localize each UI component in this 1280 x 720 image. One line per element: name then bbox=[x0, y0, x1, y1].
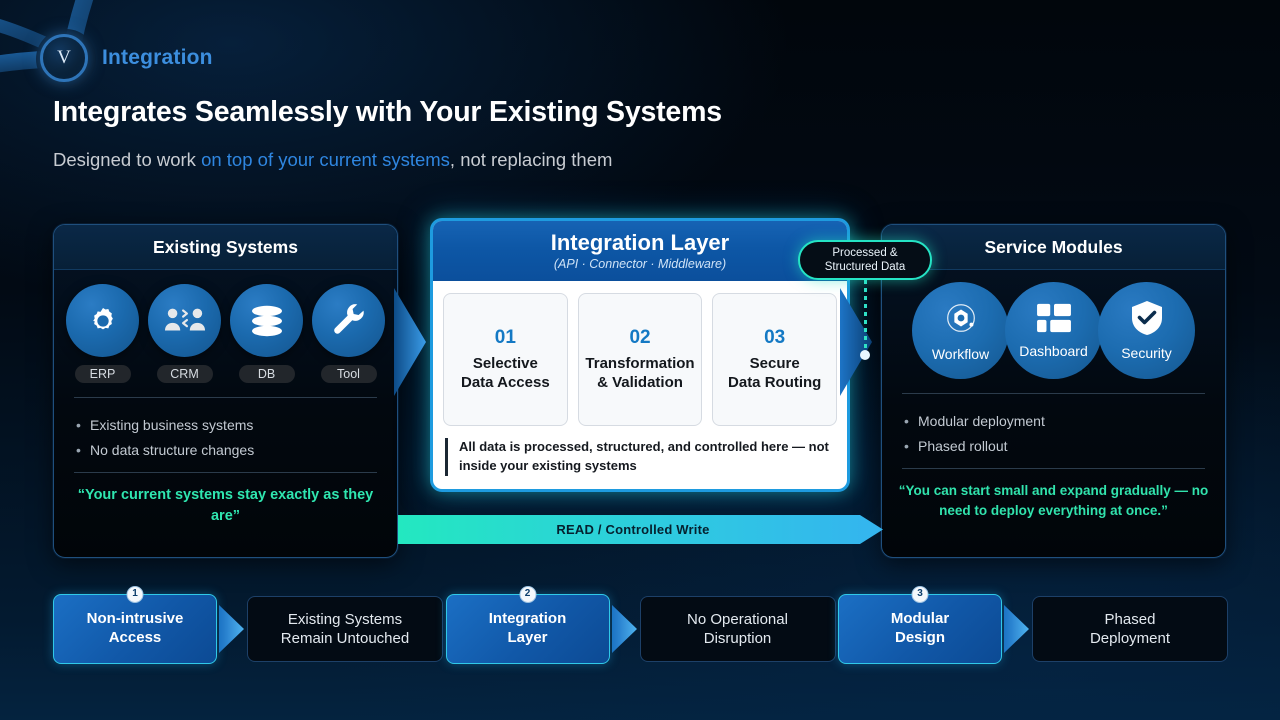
eyebrow-label: Integration bbox=[102, 46, 213, 70]
module-dashboard[interactable]: Dashboard bbox=[1005, 282, 1102, 379]
shield-check-icon bbox=[1130, 300, 1164, 341]
module-label: Workflow bbox=[932, 346, 989, 362]
people-exchange-icon bbox=[148, 284, 221, 357]
subtitle-post: , not replacing them bbox=[450, 149, 612, 170]
module-workflow[interactable]: Workflow bbox=[912, 282, 1009, 379]
page-subtitle: Designed to work on top of your current … bbox=[53, 149, 612, 171]
service-modules-panel: Service Modules Workflow bbox=[881, 224, 1226, 558]
step-number-badge: 2 bbox=[519, 586, 536, 603]
system-item-crm[interactable]: CRM bbox=[148, 284, 221, 383]
step-arrow-2 bbox=[610, 601, 640, 657]
module-security[interactable]: Security bbox=[1098, 282, 1195, 379]
node-badge-glyph: V bbox=[57, 47, 71, 69]
integration-cards: 01 SelectiveData Access 02 Transformatio… bbox=[433, 281, 847, 426]
wrench-icon bbox=[312, 284, 385, 357]
card-number: 03 bbox=[764, 327, 785, 349]
service-modules-bullets: Modular deployment Phased rollout bbox=[882, 394, 1225, 454]
card-number: 01 bbox=[495, 327, 516, 349]
existing-systems-quote: “Your current systems stay exactly as th… bbox=[54, 473, 397, 527]
gear-icon bbox=[66, 284, 139, 357]
card-label: SecureData Routing bbox=[728, 355, 821, 393]
integration-layer-title: Integration Layer bbox=[551, 231, 729, 255]
list-item: Modular deployment bbox=[904, 413, 1203, 429]
integration-layer-panel: Integration Layer (API · Connector · Mid… bbox=[430, 218, 850, 492]
step-number-badge: 1 bbox=[127, 586, 144, 603]
badge-connector-endpoint bbox=[860, 350, 870, 360]
flow-arrow-right bbox=[840, 282, 876, 402]
integration-layer-subtitle: (API · Connector · Middleware) bbox=[554, 257, 726, 271]
step-arrow-3 bbox=[1002, 601, 1032, 657]
card-label: SelectiveData Access bbox=[461, 355, 550, 393]
existing-systems-panel: Existing Systems ERP CRM bbox=[53, 224, 398, 558]
step-primary-label: IntegrationLayer bbox=[489, 610, 567, 648]
step-secondary-label: No OperationalDisruption bbox=[687, 610, 788, 649]
system-label-tool: Tool bbox=[321, 365, 377, 383]
service-modules-row: Workflow Dashboard bbox=[882, 270, 1225, 379]
system-label-crm: CRM bbox=[157, 365, 213, 383]
step-primary-label: Non-intrusiveAccess bbox=[87, 610, 184, 648]
step-secondary-label: PhasedDeployment bbox=[1090, 610, 1170, 649]
card-label: Transformation& Validation bbox=[585, 355, 694, 393]
integration-card-01[interactable]: 01 SelectiveData Access bbox=[443, 293, 568, 426]
badge-line-1: Processed & bbox=[832, 247, 897, 259]
badge-line-2: Structured Data bbox=[825, 261, 906, 273]
list-item: Phased rollout bbox=[904, 438, 1203, 454]
module-label: Security bbox=[1121, 345, 1172, 361]
processed-data-badge: Processed & Structured Data bbox=[798, 240, 932, 280]
step-primary-2[interactable]: 2 IntegrationLayer bbox=[446, 594, 610, 664]
service-modules-title: Service Modules bbox=[882, 225, 1225, 270]
step-primary-label: ModularDesign bbox=[891, 610, 949, 648]
step-secondary-1[interactable]: Existing SystemsRemain Untouched bbox=[247, 596, 443, 662]
step-group-1: 1 Non-intrusiveAccess Existing SystemsRe… bbox=[53, 594, 443, 664]
integration-layer-header: Integration Layer (API · Connector · Mid… bbox=[433, 221, 847, 281]
badge-dotted-connector bbox=[864, 280, 867, 352]
eyebrow-row: V Integration bbox=[40, 34, 213, 82]
module-label: Dashboard bbox=[1019, 343, 1088, 359]
steps-row: 1 Non-intrusiveAccess Existing SystemsRe… bbox=[53, 591, 1228, 667]
system-label-erp: ERP bbox=[75, 365, 131, 383]
step-group-2: 2 IntegrationLayer No OperationalDisrupt… bbox=[446, 594, 836, 664]
system-item-db[interactable]: DB bbox=[230, 284, 303, 383]
system-label-db: DB bbox=[239, 365, 295, 383]
subtitle-highlight: on top of your current systems bbox=[201, 149, 450, 170]
page-title: Integrates Seamlessly with Your Existing… bbox=[53, 96, 722, 129]
dashboard-grid-icon bbox=[1035, 302, 1073, 339]
step-number-badge: 3 bbox=[912, 586, 929, 603]
step-primary-3[interactable]: 3 ModularDesign bbox=[838, 594, 1002, 664]
existing-systems-icon-row: ERP CRM bbox=[54, 270, 397, 383]
integration-card-03[interactable]: 03 SecureData Routing bbox=[712, 293, 837, 426]
step-arrow-1 bbox=[217, 601, 247, 657]
card-number: 02 bbox=[629, 327, 650, 349]
integration-card-02[interactable]: 02 Transformation& Validation bbox=[578, 293, 703, 426]
integration-note: All data is processed, structured, and c… bbox=[445, 438, 835, 476]
system-item-tool[interactable]: Tool bbox=[312, 284, 385, 383]
database-icon bbox=[230, 284, 303, 357]
node-badge-icon: V bbox=[40, 34, 88, 82]
list-item: No data structure changes bbox=[76, 442, 375, 458]
flow-arrow-left bbox=[394, 282, 430, 402]
system-item-erp[interactable]: ERP bbox=[66, 284, 139, 383]
step-primary-1[interactable]: 1 Non-intrusiveAccess bbox=[53, 594, 217, 664]
step-secondary-label: Existing SystemsRemain Untouched bbox=[281, 610, 409, 649]
subtitle-pre: Designed to work bbox=[53, 149, 201, 170]
step-secondary-2[interactable]: No OperationalDisruption bbox=[640, 596, 836, 662]
slide-canvas: V Integration Integrates Seamlessly with… bbox=[0, 0, 1280, 720]
existing-systems-bullets: Existing business systems No data struct… bbox=[54, 398, 397, 458]
step-group-3: 3 ModularDesign PhasedDeployment bbox=[838, 594, 1228, 664]
service-modules-quote: “You can start small and expand graduall… bbox=[882, 469, 1225, 520]
step-secondary-3[interactable]: PhasedDeployment bbox=[1032, 596, 1228, 662]
workflow-orbit-icon bbox=[942, 299, 980, 342]
list-item: Existing business systems bbox=[76, 417, 375, 433]
flow-band-label: READ / Controlled Write bbox=[398, 513, 868, 546]
existing-systems-title: Existing Systems bbox=[54, 225, 397, 270]
